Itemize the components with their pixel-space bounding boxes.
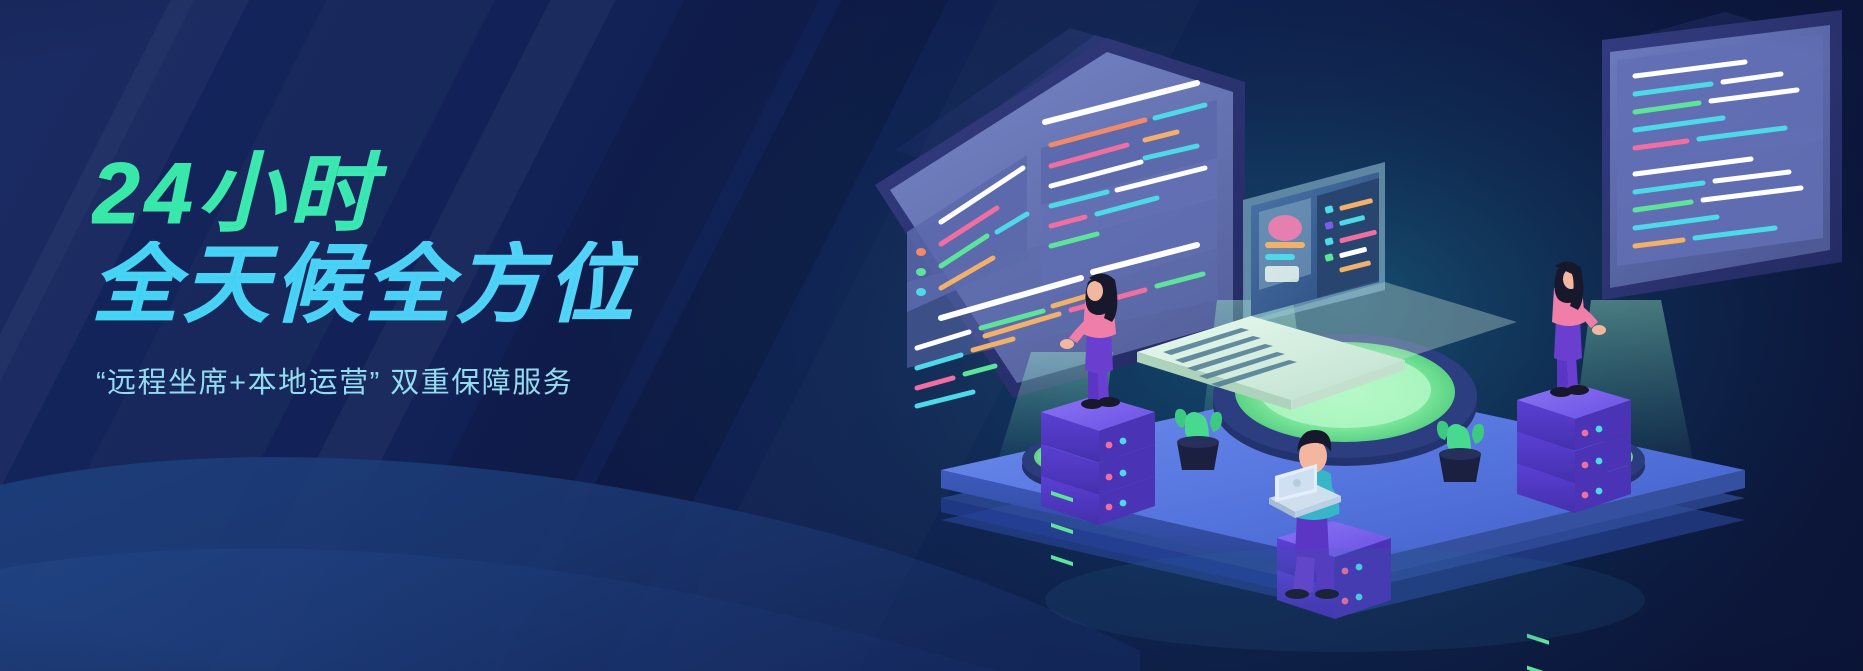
promo-banner: 24小时 全天候全方位 “远程坐席+本地运营” 双重保障服务 xyxy=(0,0,1863,671)
subtitle-text: “远程坐席+本地运营” 双重保障服务 xyxy=(96,359,638,401)
cactus-plant-left xyxy=(1175,409,1222,470)
cactus-plant-right xyxy=(1437,421,1484,482)
isometric-illustration xyxy=(845,0,1863,671)
headline-line-2: 全天候全方位 xyxy=(92,241,638,330)
copy-block: 24小时 全天候全方位 “远程坐席+本地运营” 双重保障服务 xyxy=(92,150,638,401)
right-monitor-panel xyxy=(1602,10,1842,300)
headline-line-1: 24小时 xyxy=(92,150,638,239)
